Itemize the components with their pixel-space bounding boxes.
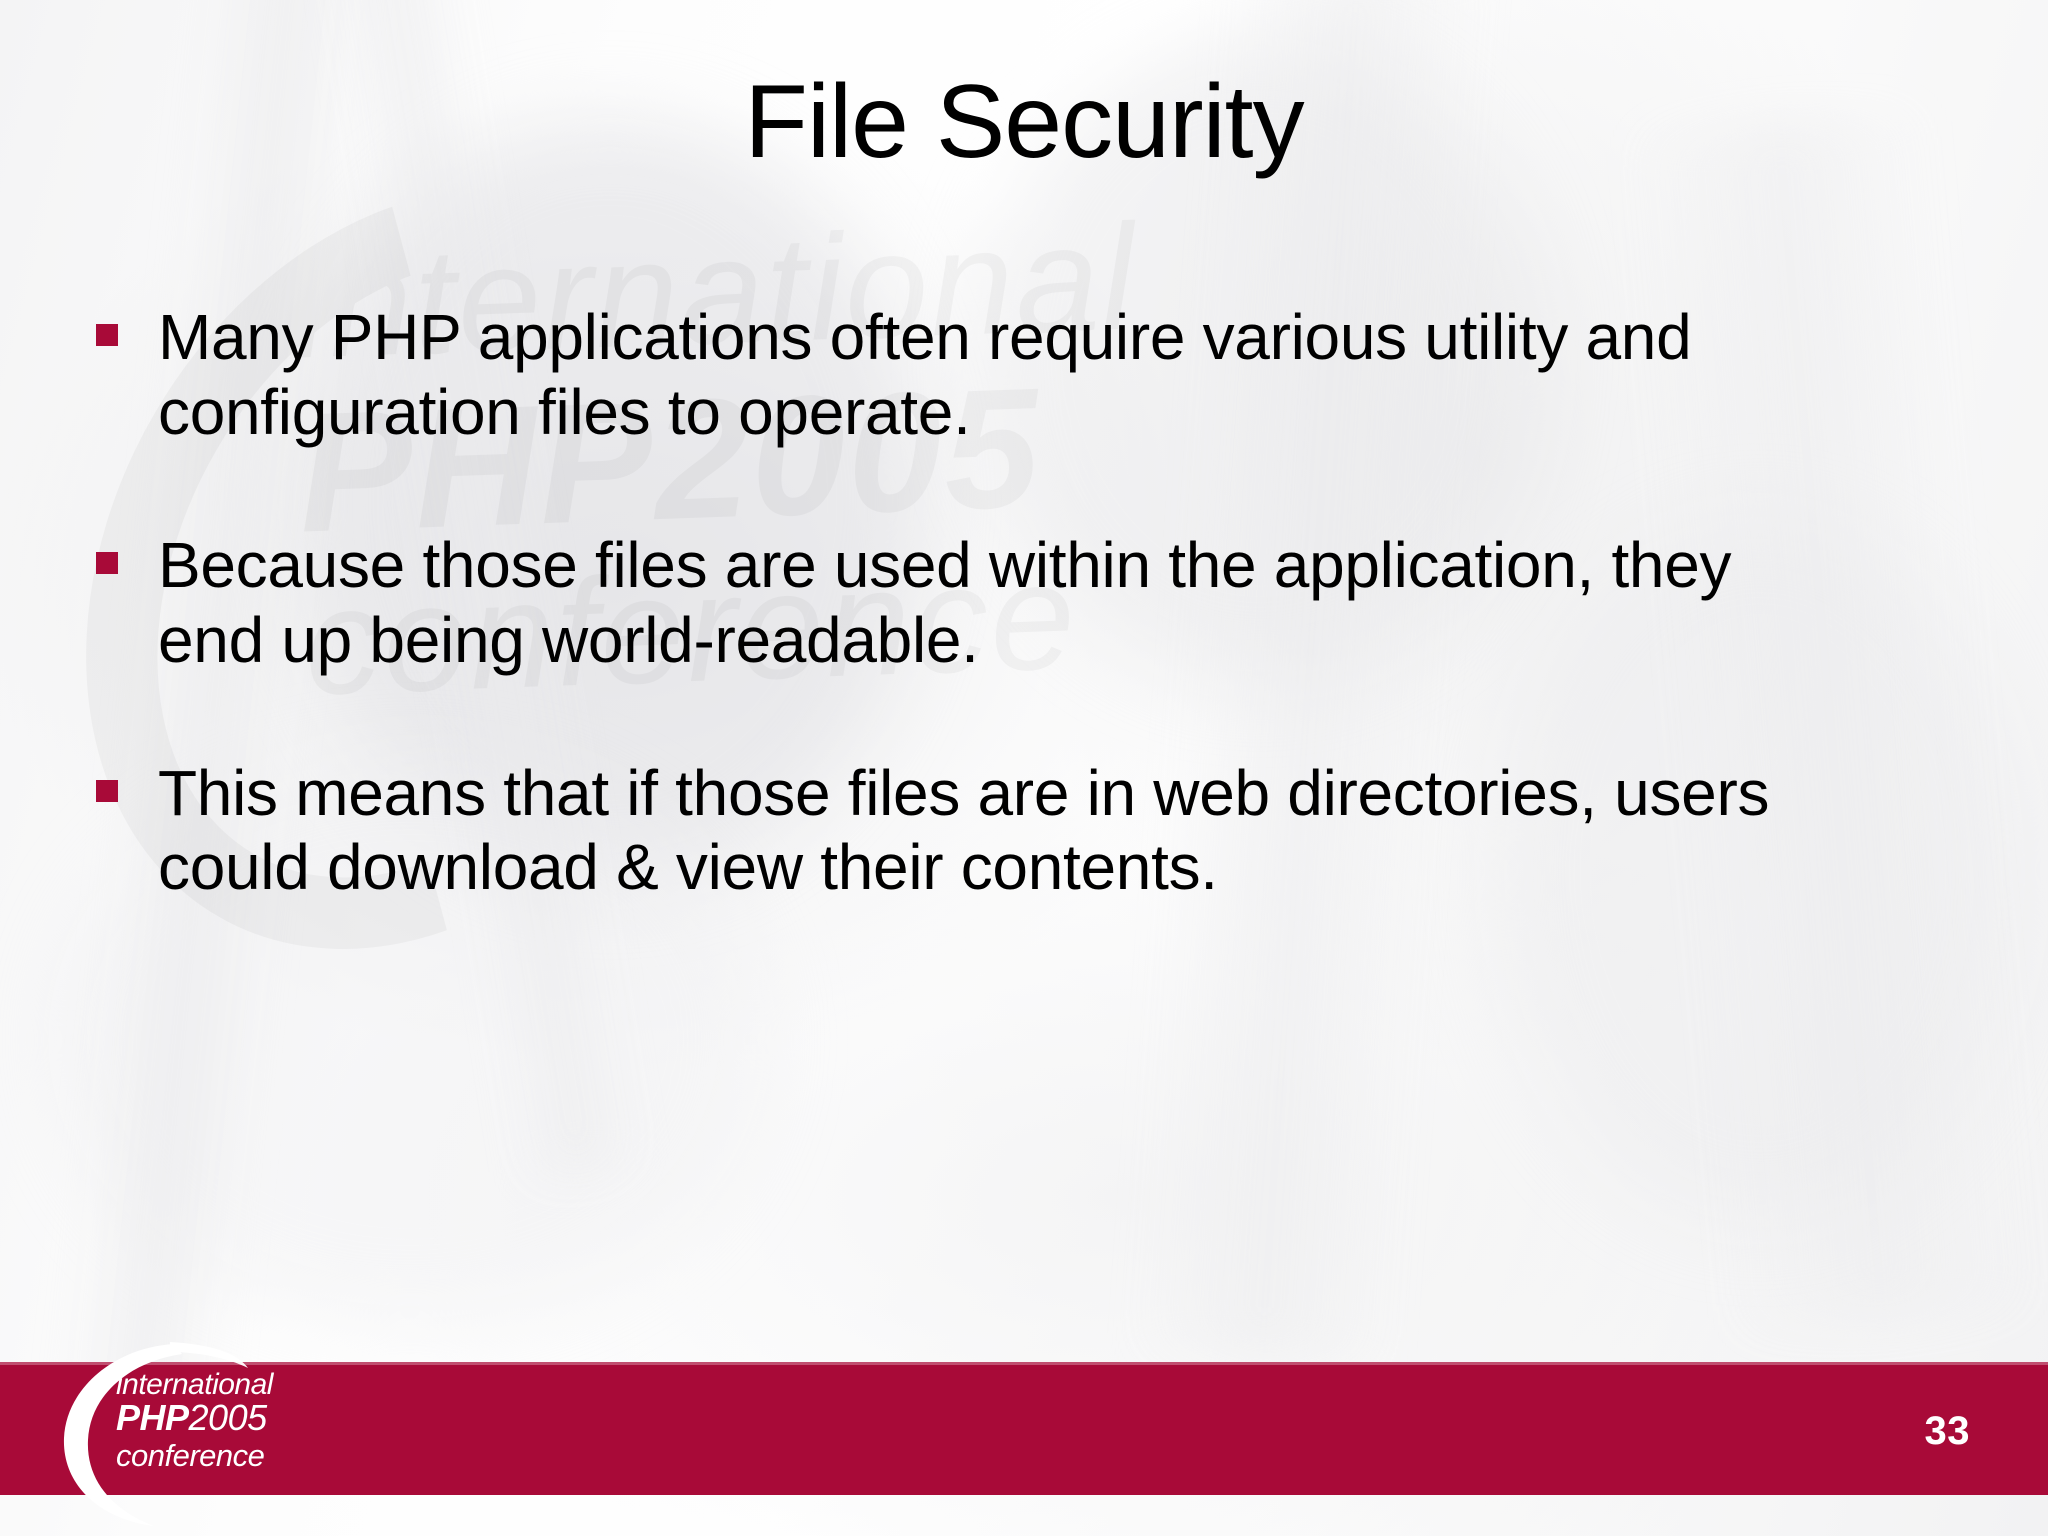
square-bullet-icon xyxy=(96,552,118,574)
bullet-text: Many PHP applications often require vari… xyxy=(158,300,1818,450)
slide-title: File Security xyxy=(0,68,2048,177)
bullet-item: Because those files are used within the … xyxy=(96,528,1896,678)
slide-body: Many PHP applications often require vari… xyxy=(96,300,1896,905)
bullet-item: This means that if those files are in we… xyxy=(96,756,1896,906)
square-bullet-icon xyxy=(96,324,118,346)
presentation-slide: international PHP2005 conference File Se… xyxy=(0,0,2048,1536)
bullet-text: This means that if those files are in we… xyxy=(158,756,1818,906)
conference-logo: international PHP2005 conference xyxy=(42,1338,342,1528)
bullet-text: Because those files are used within the … xyxy=(158,528,1818,678)
page-number: 33 xyxy=(1925,1409,1971,1454)
logo-line-php2005: PHP2005 xyxy=(116,1397,268,1438)
logo-line-conference: conference xyxy=(116,1438,265,1473)
square-bullet-icon xyxy=(96,780,118,802)
bullet-item: Many PHP applications often require vari… xyxy=(96,300,1896,450)
